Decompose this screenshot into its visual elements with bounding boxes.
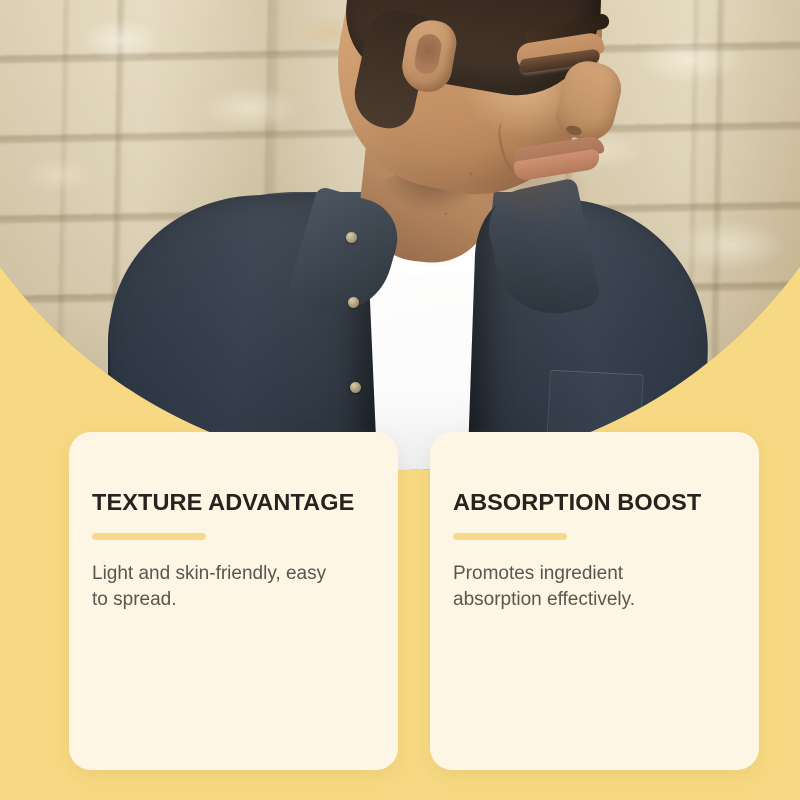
- hero-photo: [0, 0, 800, 470]
- benefit-card-absorption-boost[interactable]: ABSORPTION BOOST Promotes ingredient abs…: [430, 432, 759, 770]
- product-benefit-poster: TEXTURE ADVANTAGE Light and skin-friendl…: [0, 0, 800, 800]
- benefit-cards: TEXTURE ADVANTAGE Light and skin-friendl…: [69, 432, 759, 770]
- hero-photo-clip: [0, 0, 800, 473]
- benefit-card-body: Promotes ingredient absorption effective…: [453, 561, 703, 613]
- hero-circle-mask: [0, 0, 800, 470]
- benefit-card-body: Light and skin-friendly, easy to spread.: [92, 561, 342, 613]
- benefit-card-rule: [453, 533, 567, 540]
- person-figure: [0, 0, 800, 470]
- shirt-button: [346, 232, 357, 243]
- benefit-card-title: TEXTURE ADVANTAGE: [92, 490, 374, 515]
- benefit-card-texture-advantage[interactable]: TEXTURE ADVANTAGE Light and skin-friendl…: [69, 432, 398, 770]
- shirt-button: [348, 297, 359, 308]
- shirt-button: [350, 382, 361, 393]
- benefit-card-title: ABSORPTION BOOST: [453, 490, 735, 515]
- benefit-card-rule: [92, 533, 206, 540]
